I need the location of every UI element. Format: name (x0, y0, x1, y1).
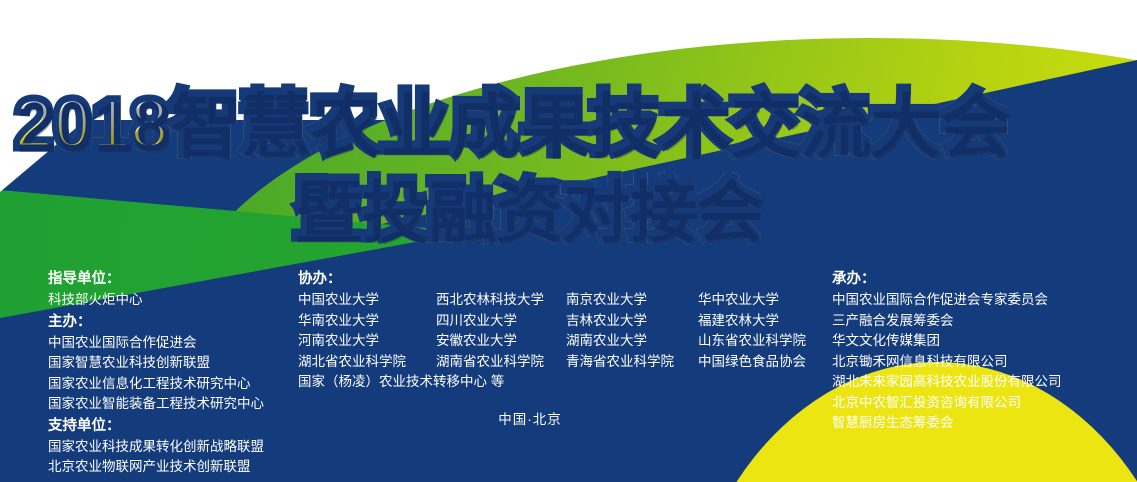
host-heading: 主办： (48, 311, 264, 333)
assist-item: 福建农林大学 (698, 311, 806, 332)
assist-item: 河南农业大学 (298, 331, 436, 352)
assist-item: 山东省农业科学院 (698, 331, 806, 352)
support-item: 国家农业科技成果转化创新战略联盟 (48, 437, 264, 458)
assist-item: 安徽农业大学 (436, 331, 566, 352)
host-item: 国家农业信息化工程技术研究中心 (48, 374, 264, 395)
guide-item: 科技部火炬中心 (48, 290, 264, 311)
assist-item: 中国绿色食品协会 (698, 352, 806, 373)
assist-item: 西北农林科技大学 (436, 290, 566, 311)
host-item: 国家智慧农业科技创新联盟 (48, 353, 264, 374)
undertake-item: 北京锄禾网信息科技有限公司 (832, 352, 1062, 373)
assist-item: 华中农业大学 (698, 290, 806, 311)
assist-item: 四川农业大学 (436, 311, 566, 332)
assist-item: 青海省农业科学院 (566, 352, 698, 373)
assist-item: 华南农业大学 (298, 311, 436, 332)
assist-item: 湖北省农业科学院 (298, 352, 436, 373)
support-item: 北京农业物联网产业技术创新联盟 (48, 457, 264, 478)
conference-banner: 2018智慧农业成果技术交流大会 暨投融资对接会 指导单位： 科技部火炬中心 主… (0, 0, 1137, 482)
assist-item: 吉林农业大学 (566, 311, 698, 332)
guide-column: 指导单位： 科技部火炬中心 主办： 中国农业国际合作促进会 国家智慧农业科技创新… (48, 268, 264, 478)
assist-item-last: 国家（杨凌）农业技术转移中心 等 (298, 372, 806, 393)
assist-item: 湖南农业大学 (566, 331, 698, 352)
guide-heading: 指导单位： (48, 268, 264, 290)
undertake-item: 三产融合发展筹委会 (832, 311, 1062, 332)
undertake-item: 华文文化传媒集团 (832, 331, 1062, 352)
assist-item: 湖南省农业科学院 (436, 352, 566, 373)
assist-grid: 中国农业大学 西北农林科技大学 南京农业大学 华中农业大学 华南农业大学 四川农… (298, 290, 806, 393)
undertake-item: 中国农业国际合作促进会专家委员会 (832, 290, 1062, 311)
undertake-item: 湖北未来家园高科技农业股份有限公司 (832, 372, 1062, 393)
undertake-heading: 承办： (832, 268, 1062, 290)
assist-item: 南京农业大学 (566, 290, 698, 311)
assist-column: 协办： 中国农业大学 西北农林科技大学 南京农业大学 华中农业大学 华南农业大学… (298, 268, 806, 393)
assist-heading: 协办： (298, 268, 806, 290)
assist-item: 中国农业大学 (298, 290, 436, 311)
host-item: 中国农业国际合作促进会 (48, 333, 264, 354)
event-location: 中国·北京 (0, 408, 1060, 428)
